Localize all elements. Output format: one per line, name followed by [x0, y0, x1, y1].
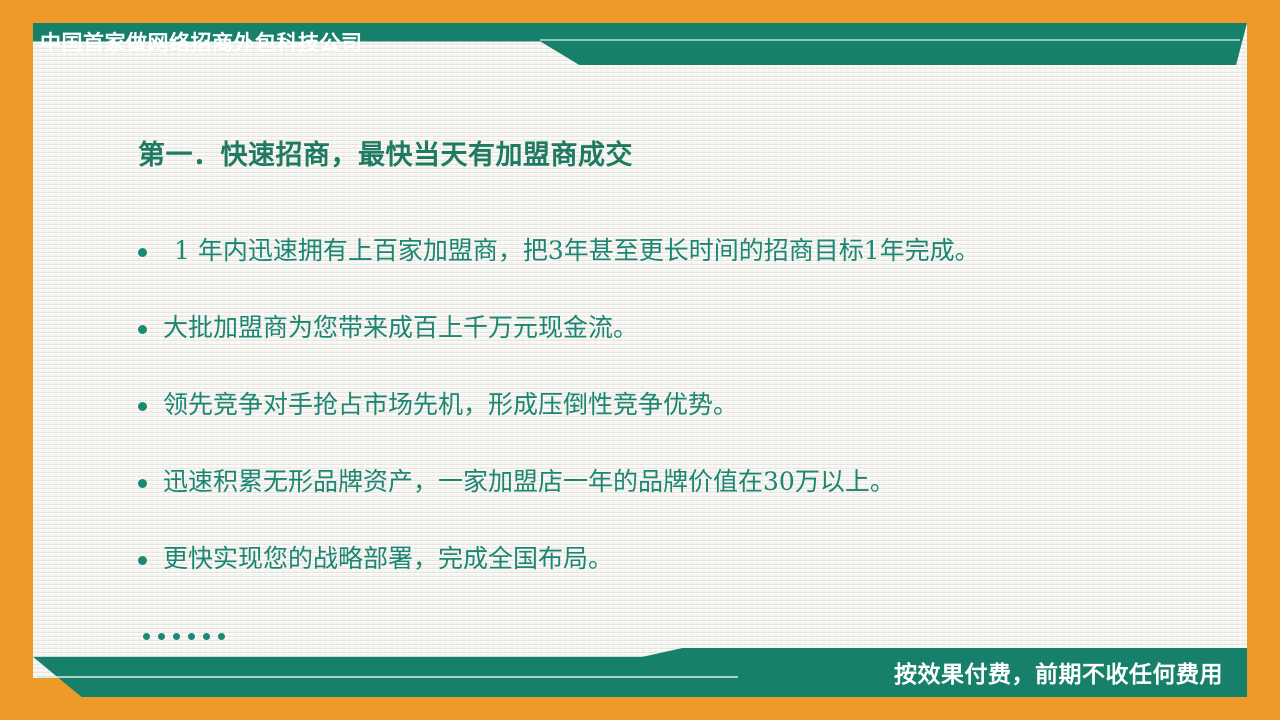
bullet-dot-icon: [138, 556, 147, 565]
bullet-dot-icon: [138, 248, 147, 257]
footer-divider-rule: [38, 676, 738, 678]
ellipsis-dot-icon: [203, 633, 210, 640]
list-item-label: 迅速积累无形品牌资产，一家加盟店一年的品牌价值在30万以上。: [163, 464, 895, 500]
list-item: 更快实现您的战略部署，完成全国布局。: [138, 541, 1208, 618]
list-item-label: 大批加盟商为您带来成百上千万元现金流。: [163, 310, 638, 346]
list-item: 迅速积累无形品牌资产，一家加盟店一年的品牌价值在30万以上。: [138, 464, 1208, 541]
ellipsis-dot-icon: [188, 633, 195, 640]
list-item: 大批加盟商为您带来成百上千万元现金流。: [138, 310, 1208, 387]
list-item: 1 年内迅速拥有上百家加盟商，把3年甚至更长时间的招商目标1年完成。: [138, 233, 1208, 310]
bullet-dot-icon: [138, 325, 147, 334]
header-divider-rule: [540, 39, 1240, 41]
ellipsis-dot-icon: [158, 633, 165, 640]
footer-tagline: 按效果付费，前期不收任何费用: [894, 654, 1223, 694]
ellipsis-dot-icon: [218, 633, 225, 640]
header-title: 中国首家做网络招商外包科技公司: [40, 23, 363, 65]
bullet-dot-icon: [138, 479, 147, 488]
continuation-ellipsis: [143, 633, 225, 640]
list-item-label: 1 年内迅速拥有上百家加盟商，把3年甚至更长时间的招商目标1年完成。: [163, 233, 980, 269]
list-item-label: 领先竞争对手抢占市场先机，形成压倒性竞争优势。: [163, 387, 738, 423]
page-title: 第一．快速招商，最快当天有加盟商成交: [138, 133, 633, 172]
bullet-dot-icon: [138, 402, 147, 411]
ellipsis-dot-icon: [173, 633, 180, 640]
header-band: 中国首家做网络招商外包科技公司: [33, 23, 1247, 65]
list-item: 领先竞争对手抢占市场先机，形成压倒性竞争优势。: [138, 387, 1208, 464]
ellipsis-dot-icon: [143, 633, 150, 640]
slide-canvas: 中国首家做网络招商外包科技公司 第一．快速招商，最快当天有加盟商成交 1 年内迅…: [0, 0, 1280, 720]
bullet-list: 1 年内迅速拥有上百家加盟商，把3年甚至更长时间的招商目标1年完成。 大批加盟商…: [138, 233, 1208, 618]
footer-band: 按效果付费，前期不收任何费用: [33, 648, 1247, 697]
list-item-label: 更快实现您的战略部署，完成全国布局。: [163, 541, 613, 577]
